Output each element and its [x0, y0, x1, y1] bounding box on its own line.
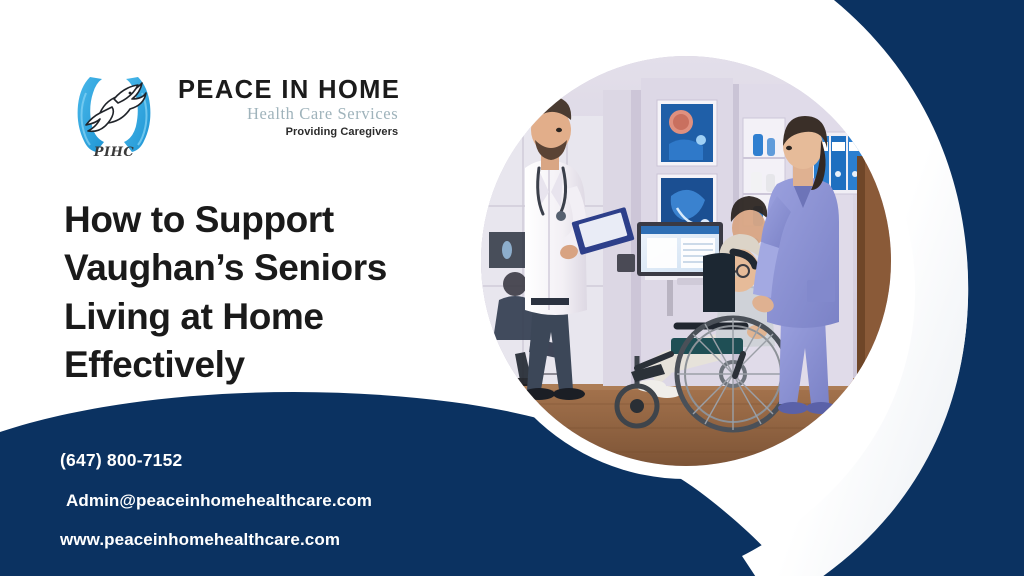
- headline-line-3: Living at Home: [64, 296, 324, 337]
- hero-photo: [481, 56, 891, 466]
- page-title: How to Support Vaughan’s Seniors Living …: [64, 196, 464, 390]
- brand-subtitle: Health Care Services: [178, 104, 400, 125]
- brand-tagline: Providing Caregivers: [178, 126, 400, 138]
- headline-line-4: Effectively: [64, 344, 245, 385]
- contact-phone[interactable]: (647) 800-7152: [60, 452, 480, 470]
- headline-line-2: Vaughan’s Seniors: [64, 247, 387, 288]
- dove-in-cupped-hands-icon: PIHC: [60, 53, 168, 161]
- wall-poster-upper: [657, 100, 717, 166]
- contact-website[interactable]: www.peaceinhomehealthcare.com: [60, 531, 480, 548]
- blog-banner: PIHC PEACE IN HOME Health Care Services …: [0, 0, 1024, 576]
- headline-line-1: How to Support: [64, 199, 334, 240]
- contact-email[interactable]: Admin@peaceinhomehealthcare.com: [60, 492, 480, 509]
- brand-logo[interactable]: PIHC PEACE IN HOME Health Care Services …: [60, 52, 430, 162]
- clinic-scene-illustration: [481, 56, 891, 466]
- contact-block: (647) 800-7152 Admin@peaceinhomehealthca…: [60, 452, 480, 548]
- brand-name: PEACE IN HOME: [178, 78, 400, 104]
- logo-monogram: PIHC: [60, 145, 168, 160]
- logo-wordmark: PEACE IN HOME Health Care Services Provi…: [178, 76, 400, 137]
